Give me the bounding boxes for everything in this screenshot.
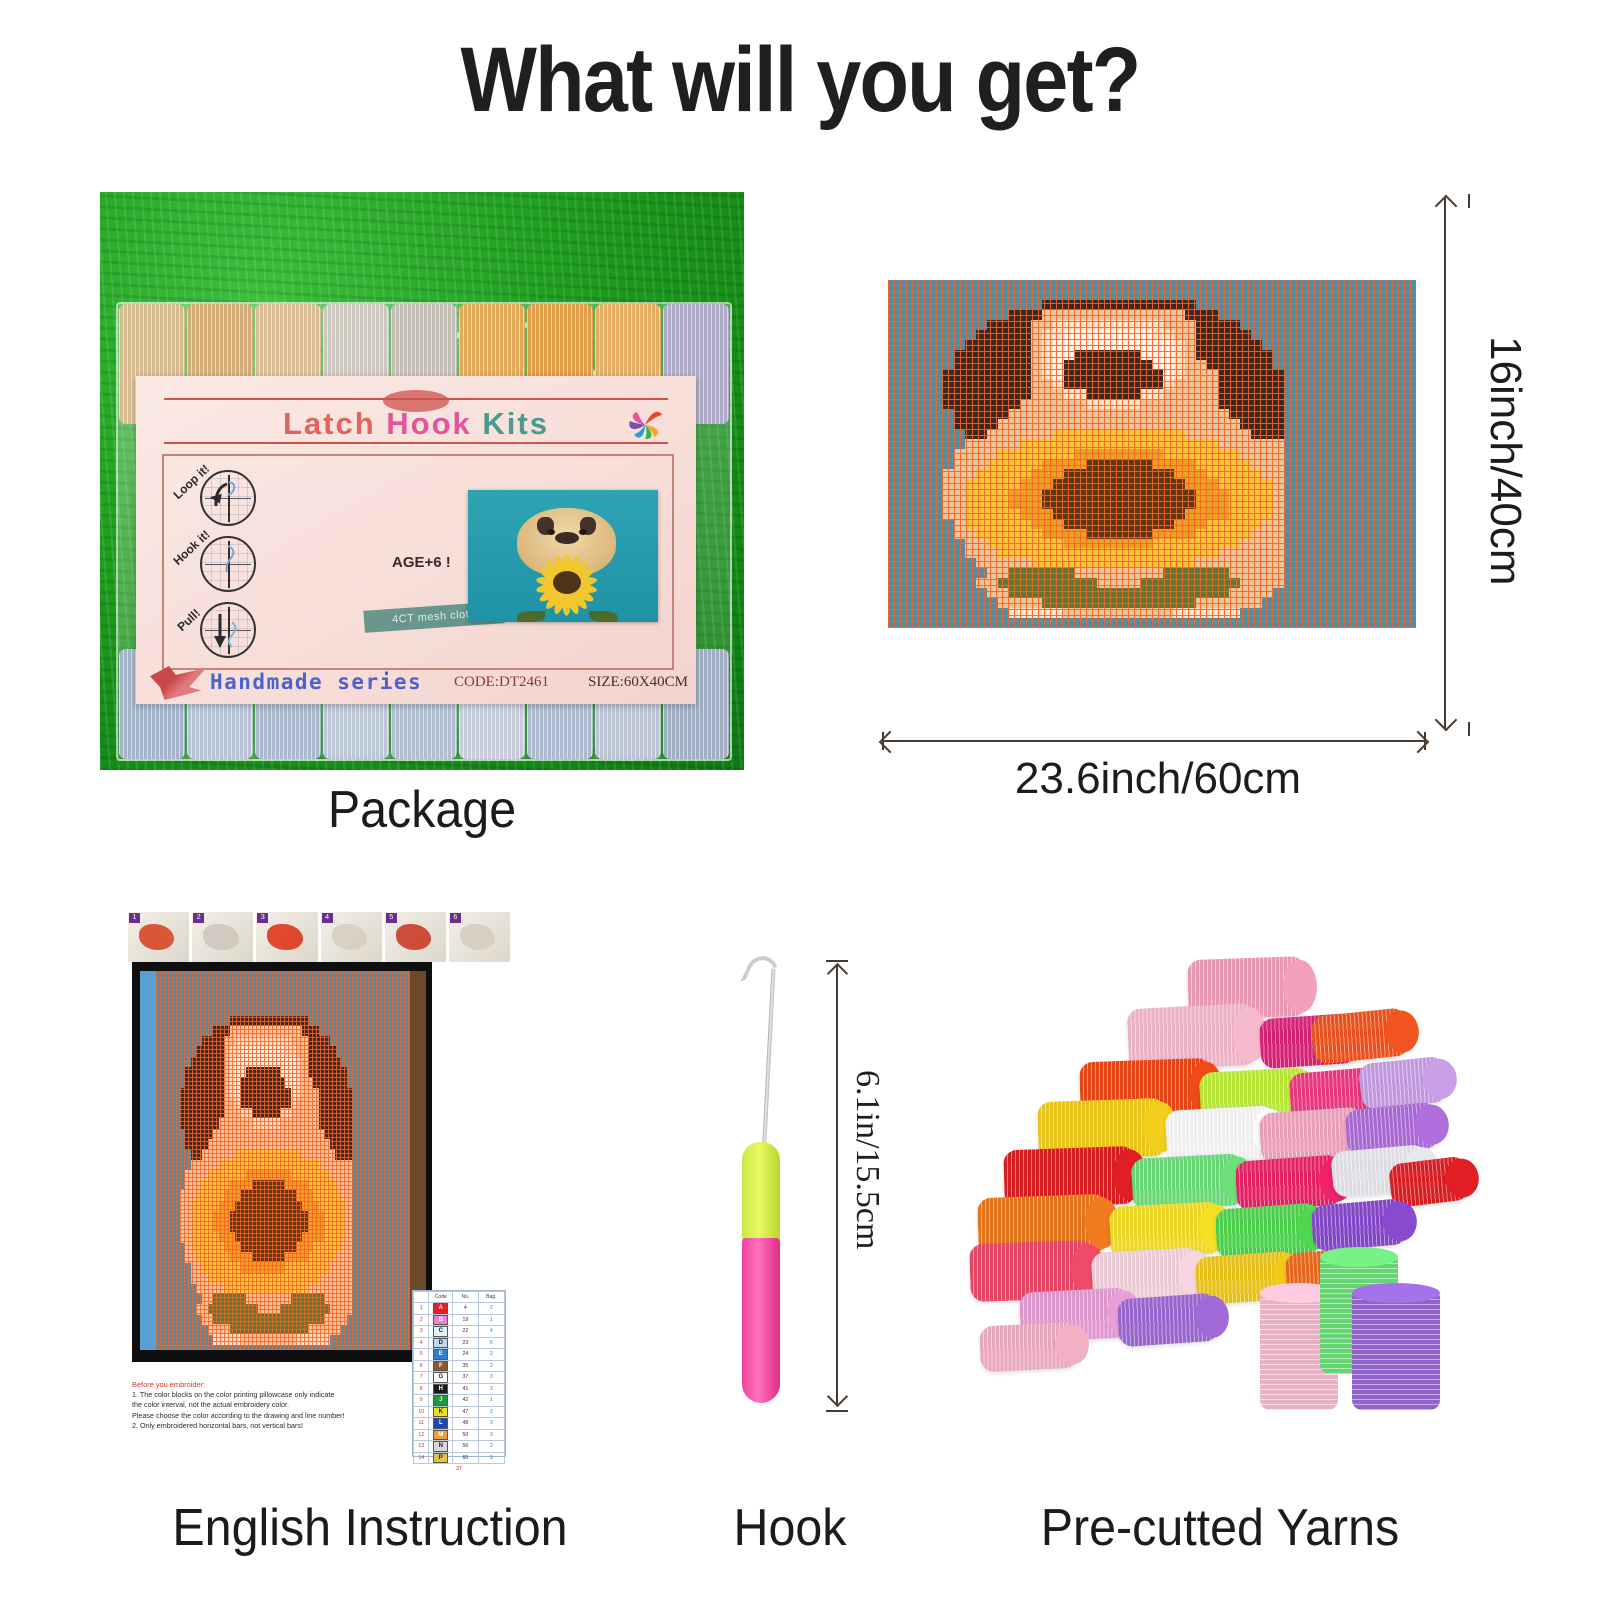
pattern-pixel	[976, 429, 987, 439]
pattern-pixel	[1240, 459, 1251, 469]
pattern-pixel	[1075, 320, 1086, 330]
pattern-pixel	[1273, 558, 1284, 568]
pattern-pixel	[965, 350, 976, 360]
pattern-pixel	[1086, 479, 1097, 489]
pattern-pixel	[1229, 459, 1240, 469]
pattern-pixel	[324, 1334, 330, 1345]
pattern-pixel	[1185, 588, 1196, 598]
pattern-pixel	[1075, 598, 1086, 608]
pattern-pixel	[1273, 429, 1284, 439]
pattern-pixel	[1152, 429, 1163, 439]
pattern-pixel	[1196, 469, 1207, 479]
pattern-pixel	[1130, 360, 1141, 370]
pattern-pixel	[1009, 320, 1020, 330]
pattern-pixel	[1163, 310, 1174, 320]
pattern-pixel	[1229, 340, 1240, 350]
pattern-pixel	[1086, 519, 1097, 529]
pattern-pixel	[1009, 509, 1020, 519]
pattern-pixel	[1229, 588, 1240, 598]
pattern-pixel	[1262, 360, 1273, 370]
pattern-pixel	[1042, 568, 1053, 578]
step-photo-3: 33	[256, 912, 317, 962]
pattern-pixel	[1174, 389, 1185, 399]
pattern-pixel	[976, 519, 987, 529]
pattern-pixel	[954, 479, 965, 489]
pattern-pixel	[1064, 558, 1075, 568]
pattern-pixel	[954, 350, 965, 360]
pattern-pixel	[1251, 598, 1262, 608]
legend-bag: 2	[478, 1349, 504, 1361]
pattern-pixel	[1119, 300, 1130, 310]
pattern-pixel	[1141, 389, 1152, 399]
product-size: SIZE:60X40CM	[588, 674, 688, 691]
pattern-pixel	[987, 568, 998, 578]
pattern-pixel	[1130, 499, 1141, 509]
pattern-pixel	[976, 529, 987, 539]
legend-header-2: No.	[453, 1292, 478, 1303]
pattern-pixel	[1020, 330, 1031, 340]
legend-row: 1A42	[414, 1303, 505, 1315]
pattern-pixel	[1108, 310, 1119, 320]
pattern-pixel	[1196, 439, 1207, 449]
pattern-pixel	[1086, 558, 1097, 568]
pattern-pixel	[1108, 409, 1119, 419]
pattern-pixel	[1163, 558, 1174, 568]
pattern-pixel	[1196, 499, 1207, 509]
pattern-pixel	[1075, 529, 1086, 539]
pattern-pixel	[998, 479, 1009, 489]
yarn-bundle	[1234, 1154, 1343, 1211]
pattern-pixel	[1075, 340, 1086, 350]
step-photo-subject	[332, 924, 367, 950]
pattern-pixel	[1229, 519, 1240, 529]
step-photo-badge: 4	[322, 913, 333, 923]
pattern-pixel	[1031, 350, 1042, 360]
pattern-pixel	[1097, 429, 1108, 439]
step-photo-badge: 6	[450, 913, 461, 923]
pattern-pixel	[1020, 419, 1031, 429]
legend-color-chip: K	[433, 1407, 448, 1418]
pattern-pixel	[1163, 419, 1174, 429]
step-photo-row: 112233445566	[128, 912, 510, 962]
pattern-pixel	[1229, 360, 1240, 370]
pattern-pixel	[1229, 548, 1240, 558]
pattern-pixel	[1185, 389, 1196, 399]
pattern-pixel	[1141, 519, 1152, 529]
pattern-pixel	[1097, 509, 1108, 519]
pattern-pixel	[1251, 479, 1262, 489]
pattern-pixel	[1163, 519, 1174, 529]
pattern-pixel	[1251, 568, 1262, 578]
pattern-pixel	[1020, 578, 1031, 588]
pattern-pixel	[1097, 469, 1108, 479]
pattern-pixel	[1196, 519, 1207, 529]
step-photo-4: 44	[321, 912, 382, 962]
pattern-pixel	[976, 399, 987, 409]
pattern-pixel	[1086, 419, 1097, 429]
pattern-pixel	[1075, 459, 1086, 469]
pattern-pixel	[1262, 350, 1273, 360]
pattern-pixel	[943, 489, 954, 499]
pattern-pixel	[1009, 529, 1020, 539]
pattern-pixel	[1009, 439, 1020, 449]
pattern-pixel	[1229, 439, 1240, 449]
pattern-pixel	[1064, 429, 1075, 439]
pattern-pixel	[1097, 608, 1108, 618]
pattern-pixel	[1031, 509, 1042, 519]
pattern-pixel	[998, 360, 1009, 370]
pattern-pixel	[1240, 479, 1251, 489]
pattern-pixel	[1042, 529, 1053, 539]
pattern-pixel	[1119, 499, 1130, 509]
pattern-pixel	[1273, 449, 1284, 459]
pattern-pixel	[1053, 519, 1064, 529]
pattern-pixel	[1196, 608, 1207, 618]
pattern-pixel	[943, 499, 954, 509]
pattern-pixel	[987, 330, 998, 340]
pattern-pixel	[1273, 469, 1284, 479]
pattern-pixel	[1163, 350, 1174, 360]
pattern-pixel	[335, 1324, 341, 1335]
pattern-pixel	[1185, 519, 1196, 529]
pattern-pixel	[1031, 409, 1042, 419]
pattern-pixel	[954, 519, 965, 529]
caption-package: Package	[123, 780, 722, 840]
pattern-pixel	[1196, 399, 1207, 409]
pattern-pixel	[1119, 379, 1130, 389]
pattern-pixel	[1163, 489, 1174, 499]
pattern-pixel	[954, 389, 965, 399]
pattern-pixel	[1240, 499, 1251, 509]
pattern-pixel	[1130, 539, 1141, 549]
pattern-pixel	[1108, 360, 1119, 370]
pattern-pixel	[998, 548, 1009, 558]
pattern-pixel	[1207, 489, 1218, 499]
pattern-pixel	[987, 350, 998, 360]
pattern-pixel	[1020, 608, 1031, 618]
pattern-pixel	[1207, 379, 1218, 389]
pattern-pixel	[1009, 340, 1020, 350]
pattern-pixel	[1229, 499, 1240, 509]
legend-index: 13	[414, 1441, 429, 1453]
pattern-pixel	[1218, 449, 1229, 459]
pattern-pixel	[1262, 529, 1273, 539]
chart-image-area	[156, 971, 410, 1350]
pattern-pixel	[1009, 568, 1020, 578]
hook-dimension-cap-bottom	[826, 1410, 848, 1412]
step-photo-subject	[203, 924, 238, 950]
legend-row: 12M503	[414, 1429, 505, 1441]
pattern-pixel	[1009, 449, 1020, 459]
pattern-pixel	[1086, 489, 1097, 499]
pattern-pixel	[1196, 539, 1207, 549]
pattern-pixel	[943, 379, 954, 389]
pattern-pixel	[1053, 300, 1064, 310]
pattern-pixel	[943, 389, 954, 399]
pattern-pixel	[1174, 310, 1185, 320]
pattern-pixel	[1218, 399, 1229, 409]
pattern-pixel	[1207, 568, 1218, 578]
legend-row: 9J421	[414, 1395, 505, 1407]
step-photo-badge: 3	[257, 913, 268, 923]
pattern-pixel	[1152, 310, 1163, 320]
pattern-pixel	[1097, 449, 1108, 459]
pattern-pixel	[1207, 449, 1218, 459]
legend-header-0	[414, 1292, 429, 1303]
pattern-pixel	[1020, 449, 1031, 459]
pattern-pixel	[1119, 360, 1130, 370]
pattern-pixel	[1130, 598, 1141, 608]
pattern-pixel	[1174, 459, 1185, 469]
pattern-pixel	[1031, 558, 1042, 568]
pattern-pixel	[1130, 340, 1141, 350]
pattern-pixel	[1086, 578, 1097, 588]
pattern-pixel	[1163, 439, 1174, 449]
pattern-pixel	[1218, 330, 1229, 340]
pattern-pixel	[346, 1304, 352, 1315]
pattern-pixel	[1196, 369, 1207, 379]
pattern-pixel	[1042, 300, 1053, 310]
pattern-pixel	[1086, 399, 1097, 409]
pattern-pixel	[1152, 568, 1163, 578]
pattern-pixel	[1130, 548, 1141, 558]
pattern-pixel	[1152, 360, 1163, 370]
pattern-pixel	[1196, 409, 1207, 419]
pattern-pixel	[1075, 499, 1086, 509]
pattern-pixel	[1009, 489, 1020, 499]
pattern-pixel	[1174, 399, 1185, 409]
legend-row: 11L483	[414, 1418, 505, 1430]
pattern-pixel	[987, 529, 998, 539]
pattern-pixel	[1141, 369, 1152, 379]
pattern-pixel	[1031, 459, 1042, 469]
pattern-pixel	[998, 409, 1009, 419]
pattern-pixel	[1185, 548, 1196, 558]
pattern-pixel	[987, 588, 998, 598]
pattern-pixel	[1108, 459, 1119, 469]
pattern-pixel	[1273, 568, 1284, 578]
pattern-pixel	[1119, 340, 1130, 350]
pattern-pixel	[1240, 449, 1251, 459]
pattern-pixel	[1108, 499, 1119, 509]
pattern-pixel	[1053, 379, 1064, 389]
pattern-pixel	[1207, 399, 1218, 409]
legend-count: 4	[453, 1303, 478, 1315]
pattern-pixel	[1185, 310, 1196, 320]
pattern-pixel	[943, 469, 954, 479]
pattern-pixel	[1185, 360, 1196, 370]
pattern-pixel	[1218, 548, 1229, 558]
pattern-pixel	[1251, 350, 1262, 360]
legend-bag: 5	[478, 1337, 504, 1349]
pattern-pixel	[1207, 330, 1218, 340]
pattern-pixel	[1163, 509, 1174, 519]
pattern-pixel	[1064, 499, 1075, 509]
pattern-pixel	[1141, 489, 1152, 499]
pattern-pixel	[976, 539, 987, 549]
pattern-pixel	[1020, 399, 1031, 409]
pattern-pixel	[965, 369, 976, 379]
pattern-pixel	[1108, 489, 1119, 499]
pattern-pixel	[1031, 449, 1042, 459]
hook-tool-panel: 6.1in/15.5cm	[690, 950, 890, 1430]
pattern-pixel	[1042, 449, 1053, 459]
pattern-pixel	[965, 479, 976, 489]
pattern-pixel	[976, 548, 987, 558]
pattern-pixel	[987, 558, 998, 568]
pattern-pixel	[1075, 608, 1086, 618]
pattern-pixel	[1262, 539, 1273, 549]
label-rule-top	[164, 398, 668, 400]
pattern-pixel	[1119, 389, 1130, 399]
pattern-pixel	[987, 489, 998, 499]
pattern-pixel	[965, 429, 976, 439]
pattern-pixel	[1240, 340, 1251, 350]
pattern-pixel	[1053, 459, 1064, 469]
pattern-pixel	[1185, 469, 1196, 479]
pattern-pixel	[1064, 409, 1075, 419]
pattern-pixel	[1218, 350, 1229, 360]
pattern-pixel	[1218, 568, 1229, 578]
pattern-pixel	[1130, 310, 1141, 320]
legend-header-1: Code	[429, 1292, 453, 1303]
pattern-pixel	[1240, 568, 1251, 578]
pattern-pixel	[1251, 539, 1262, 549]
pattern-pixel	[1119, 449, 1130, 459]
step-photo-2: 22	[192, 912, 253, 962]
pattern-pixel	[987, 519, 998, 529]
pattern-pixel	[1031, 568, 1042, 578]
pattern-pixel	[1097, 479, 1108, 489]
pattern-pixel	[1064, 360, 1075, 370]
pattern-pixel	[1031, 608, 1042, 618]
pattern-pixel	[1262, 369, 1273, 379]
pattern-pixel	[1229, 330, 1240, 340]
pattern-pixel	[1064, 479, 1075, 489]
pattern-pixel	[1119, 310, 1130, 320]
pattern-pixel	[1130, 399, 1141, 409]
pattern-pixel	[1185, 409, 1196, 419]
legend-color-chip: A	[433, 1303, 448, 1314]
pattern-pixel	[1218, 558, 1229, 568]
pattern-pixel	[1053, 539, 1064, 549]
pattern-pixel	[1229, 379, 1240, 389]
pattern-pixel	[1130, 389, 1141, 399]
yarn-tube-top	[1352, 1283, 1440, 1303]
pattern-pixel	[1174, 340, 1185, 350]
pattern-pixel	[965, 360, 976, 370]
yarn-bundle	[1310, 1198, 1408, 1252]
pattern-pixel	[1053, 449, 1064, 459]
pattern-pixel	[1163, 389, 1174, 399]
pattern-pixel	[965, 449, 976, 459]
pattern-pixel	[1009, 469, 1020, 479]
pattern-pixel	[1207, 588, 1218, 598]
pattern-pixel	[1196, 459, 1207, 469]
pattern-pixel	[965, 548, 976, 558]
pattern-pixel	[1119, 519, 1130, 529]
pattern-pixel	[1229, 320, 1240, 330]
pattern-pixel	[1174, 539, 1185, 549]
pattern-pixel	[1020, 568, 1031, 578]
pattern-pixel	[1009, 419, 1020, 429]
pattern-pixel	[1119, 529, 1130, 539]
pattern-pixel	[998, 558, 1009, 568]
pattern-pixel	[1251, 409, 1262, 419]
step-photo-6: 66	[449, 912, 510, 962]
pattern-pixel	[1152, 419, 1163, 429]
pattern-pixel	[1251, 439, 1262, 449]
pattern-pixel	[1152, 340, 1163, 350]
step-photo-badge: 5	[386, 913, 397, 923]
pattern-pixel	[1130, 379, 1141, 389]
pattern-pixel	[1031, 499, 1042, 509]
pattern-pixel	[987, 320, 998, 330]
pattern-pixel	[1207, 519, 1218, 529]
pattern-pixel	[1207, 598, 1218, 608]
legend-bag: 3	[478, 1452, 504, 1464]
yarn-bundle	[1214, 1202, 1321, 1259]
pattern-pixel	[1240, 399, 1251, 409]
legend-code: D	[429, 1337, 453, 1349]
pattern-pixel	[1086, 449, 1097, 459]
pattern-pixel	[1053, 548, 1064, 558]
legend-bag: 3	[478, 1406, 504, 1418]
pattern-pixel	[1141, 568, 1152, 578]
pattern-pixel	[1251, 449, 1262, 459]
pattern-pixel	[1009, 588, 1020, 598]
pattern-pixel	[1152, 598, 1163, 608]
pattern-pixel	[998, 519, 1009, 529]
pattern-pixel	[1108, 439, 1119, 449]
pattern-pixel	[1086, 300, 1097, 310]
pattern-pixel	[998, 389, 1009, 399]
pattern-pixel	[1130, 509, 1141, 519]
hook-length-label: 6.1in/15.5cm	[848, 1070, 886, 1249]
pattern-pixel	[1053, 568, 1064, 578]
pattern-pixel	[1108, 419, 1119, 429]
pattern-pixel	[1075, 330, 1086, 340]
pattern-pixel	[1218, 429, 1229, 439]
pattern-pixel	[1218, 459, 1229, 469]
pattern-pixel	[1273, 439, 1284, 449]
color-legend-table: CodeNo.Bag.1A422B1913C2244D2355E2426F352…	[412, 1290, 506, 1457]
pattern-pixel	[1163, 360, 1174, 370]
sunflower-leaf-right	[589, 611, 617, 622]
pattern-pixel	[1108, 598, 1119, 608]
pattern-pixel	[976, 558, 987, 568]
pattern-pixel	[1251, 588, 1262, 598]
pattern-pixel	[1020, 499, 1031, 509]
pattern-pixel	[1141, 399, 1152, 409]
pattern-pixel	[1240, 588, 1251, 598]
pattern-pixel	[1163, 578, 1174, 588]
pattern-pixel	[965, 489, 976, 499]
pattern-pixel	[1174, 598, 1185, 608]
pattern-pixel	[954, 449, 965, 459]
pattern-pixel	[1064, 419, 1075, 429]
pattern-pixel	[1229, 509, 1240, 519]
pattern-pixel	[1152, 439, 1163, 449]
label-instruction-box: Loop it! Hook it! Pull!	[162, 454, 674, 670]
pattern-pixel	[1152, 578, 1163, 588]
yarn-bundle	[1116, 1293, 1219, 1348]
pattern-pixel	[1207, 310, 1218, 320]
pattern-pixel	[1075, 469, 1086, 479]
pattern-pixel	[1097, 340, 1108, 350]
pattern-pixel	[1119, 369, 1130, 379]
pattern-pixel	[1042, 519, 1053, 529]
